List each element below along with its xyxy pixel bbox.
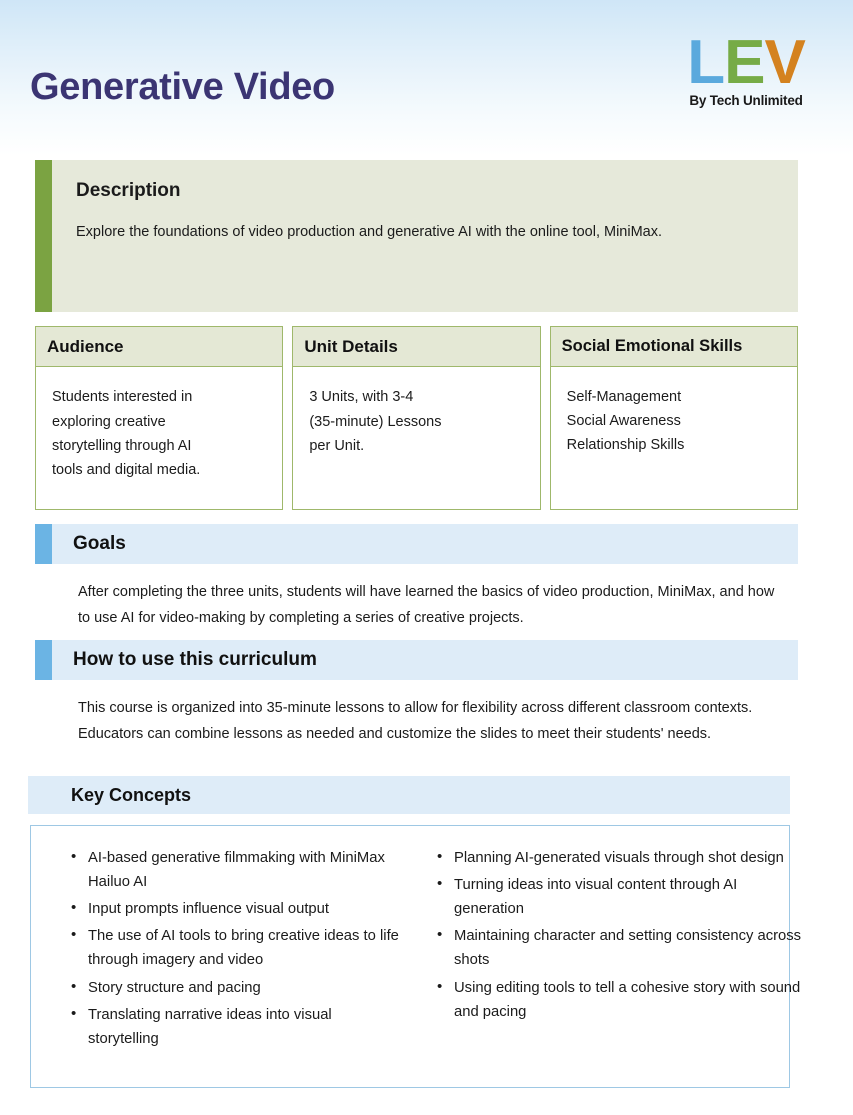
info-card-audience: Audience Students interested in explorin… — [35, 326, 283, 510]
goals-section: Goals After completing the three units, … — [35, 524, 798, 632]
description-heading: Description — [76, 180, 772, 202]
card-line: Self-Management — [567, 385, 783, 409]
how-to-use-header: How to use this curriculum — [35, 640, 798, 680]
description-body: Description Explore the foundations of v… — [52, 160, 798, 312]
description-text: Explore the foundations of video product… — [76, 220, 741, 245]
logo-letters: L E V — [675, 38, 817, 89]
info-card-unit-details: Unit Details 3 Units, with 3-4 (35-minut… — [292, 326, 540, 510]
card-line: Social Awareness — [567, 409, 783, 433]
description-accent-bar — [35, 160, 52, 312]
list-item: Planning AI-generated visuals through sh… — [437, 846, 809, 870]
goals-heading: Goals — [52, 524, 798, 564]
lev-logo: L E V By Tech Unlimited — [675, 38, 817, 108]
list-item: The use of AI tools to bring creative id… — [71, 924, 405, 972]
key-concepts-right-column: Planning AI-generated visuals through sh… — [411, 846, 791, 1087]
page-title: Generative Video — [30, 68, 335, 106]
description-block: Description Explore the foundations of v… — [35, 160, 798, 312]
info-card-social-emotional-skills: Social Emotional Skills Self-Management … — [550, 326, 798, 510]
info-card-body: 3 Units, with 3-4 (35-minute) Lessons pe… — [293, 367, 539, 472]
key-concepts-left-column: AI-based generative filmmaking with Mini… — [31, 846, 411, 1087]
goals-accent-bar — [35, 524, 52, 564]
page-header: Generative Video L E V By Tech Unlimited — [0, 0, 853, 152]
info-cards-row: Audience Students interested in explorin… — [35, 326, 798, 510]
list-item: Translating narrative ideas into visual … — [71, 1003, 405, 1051]
card-line: Students interested in — [52, 385, 268, 409]
list-item: AI-based generative filmmaking with Mini… — [71, 846, 405, 894]
logo-letter-v-icon: V — [764, 38, 804, 89]
info-card-body: Students interested in exploring creativ… — [36, 367, 282, 496]
card-line: (35-minute) Lessons — [309, 410, 525, 434]
how-to-use-text: This course is organized into 35-minute … — [35, 680, 798, 748]
info-card-title: Unit Details — [293, 327, 539, 367]
goals-header: Goals — [35, 524, 798, 564]
card-line: Relationship Skills — [567, 433, 783, 457]
key-concepts-box: AI-based generative filmmaking with Mini… — [30, 825, 790, 1088]
list-item: Using editing tools to tell a cohesive s… — [437, 976, 809, 1024]
card-line: exploring creative — [52, 410, 268, 434]
info-card-body: Self-Management Social Awareness Relatio… — [551, 367, 797, 472]
how-to-use-heading: How to use this curriculum — [52, 640, 798, 680]
goals-text: After completing the three units, studen… — [35, 564, 798, 632]
info-card-title: Audience — [36, 327, 282, 367]
card-line: tools and digital media. — [52, 458, 268, 482]
list-item: Turning ideas into visual content throug… — [437, 873, 809, 921]
list-item: Input prompts influence visual output — [71, 897, 405, 921]
card-line: 3 Units, with 3-4 — [309, 385, 525, 409]
list-item: Story structure and pacing — [71, 976, 405, 1000]
logo-letter-l-icon: L — [687, 38, 724, 89]
logo-letter-e-icon: E — [724, 38, 764, 89]
logo-tagline: By Tech Unlimited — [675, 93, 817, 108]
key-concepts-heading: Key Concepts — [28, 776, 790, 814]
card-line: per Unit. — [309, 434, 525, 458]
how-to-use-accent-bar — [35, 640, 52, 680]
list-item: Maintaining character and setting consis… — [437, 924, 809, 972]
info-card-title: Social Emotional Skills — [551, 327, 797, 367]
card-line: storytelling through AI — [52, 434, 268, 458]
how-to-use-section: How to use this curriculum This course i… — [35, 640, 798, 748]
curriculum-overview-page: Generative Video L E V By Tech Unlimited… — [0, 0, 853, 1115]
